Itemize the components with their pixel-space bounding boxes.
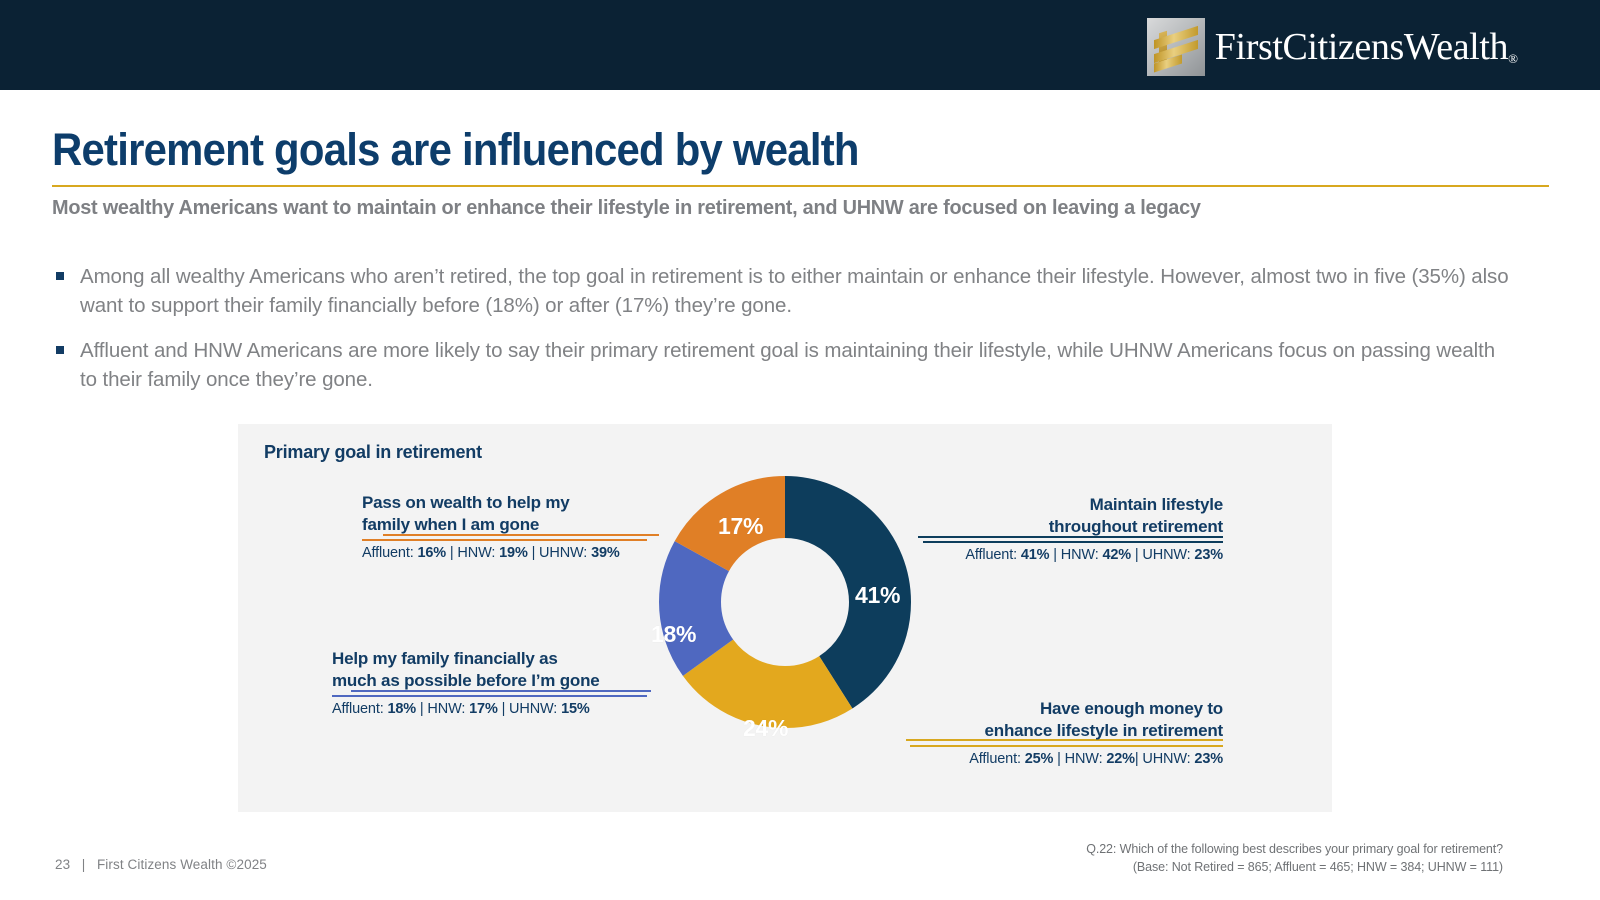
- breakdown-value-hnw: 22%: [1106, 751, 1135, 767]
- breakdown-label-hnw: | HNW:: [446, 545, 499, 561]
- bullet-square-icon: [56, 346, 64, 354]
- first-citizens-bands-logo: [1147, 18, 1205, 76]
- slice-value-enough: 24%: [743, 715, 788, 742]
- slice-value-pass: 17%: [718, 513, 763, 540]
- page-title: Retirement goals are influenced by wealt…: [52, 124, 859, 176]
- footer-copyright: First Citizens Wealth ©2025: [97, 857, 267, 872]
- footnote-question: Q.22: Which of the following best descri…: [1086, 840, 1503, 858]
- callout-heading-line1: Maintain lifestyle: [923, 494, 1223, 516]
- breakdown-label-affluent: Affluent:: [362, 545, 417, 561]
- callout-heading-line1: Help my family financially as: [332, 648, 647, 670]
- breakdown-value-affluent: 16%: [417, 545, 446, 561]
- breakdown-value-affluent: 18%: [387, 701, 416, 717]
- slice-value-maintain: 41%: [855, 582, 900, 609]
- breakdown-value-hnw: 19%: [499, 545, 528, 561]
- chart-panel: Primary goal in retirement 41% 24% 18% 1…: [238, 424, 1332, 812]
- breakdown-label-uhnw: | UHNW:: [1131, 547, 1194, 563]
- brand-name: FirstCitizensWealth: [1215, 26, 1508, 68]
- title-divider: [52, 185, 1549, 187]
- callout-heading-line1: Have enough money to: [910, 698, 1223, 720]
- brand-logo: FirstCitizensWealth®: [1147, 18, 1518, 76]
- list-item: Affluent and HNW Americans are more like…: [56, 336, 1516, 394]
- brand-wordmark: FirstCitizensWealth®: [1215, 25, 1518, 69]
- callout-heading-line2: throughout retirement: [923, 516, 1223, 538]
- callout-breakdown: Affluent: 16% | HNW: 19% | UHNW: 39%: [362, 541, 647, 561]
- breakdown-value-affluent: 25%: [1025, 751, 1054, 767]
- footer-separator: |: [82, 857, 86, 872]
- callout-breakdown: Affluent: 25% | HNW: 22%| UHNW: 23%: [910, 747, 1223, 767]
- callout-heading-line2: enhance lifestyle in retirement: [910, 720, 1223, 742]
- callout-maintain-lifestyle: Maintain lifestyle throughout retirement…: [923, 494, 1223, 563]
- callout-heading: Help my family financially as much as po…: [332, 648, 647, 695]
- breakdown-label-hnw: | HNW:: [1053, 751, 1106, 767]
- list-item: Among all wealthy Americans who aren’t r…: [56, 262, 1516, 320]
- breakdown-label-uhnw: | UHNW:: [1135, 751, 1195, 767]
- breakdown-label-uhnw: | UHNW:: [528, 545, 591, 561]
- breakdown-label-affluent: Affluent:: [969, 751, 1024, 767]
- callout-heading-line2: family when I am gone: [362, 514, 647, 536]
- callout-heading-line1: Pass on wealth to help my: [362, 492, 647, 514]
- breakdown-label-hnw: | HNW:: [416, 701, 469, 717]
- page-number: 23: [55, 857, 70, 872]
- footer-left: 23 | First Citizens Wealth ©2025: [55, 857, 267, 872]
- breakdown-label-uhnw: | UHNW:: [498, 701, 561, 717]
- callout-heading: Maintain lifestyle throughout retirement: [923, 494, 1223, 541]
- callout-heading-line2: much as possible before I’m gone: [332, 670, 647, 692]
- breakdown-value-uhnw: 23%: [1194, 547, 1223, 563]
- breakdown-label-affluent: Affluent:: [332, 701, 387, 717]
- callout-pass-on-wealth: Pass on wealth to help my family when I …: [362, 492, 647, 561]
- chart-title: Primary goal in retirement: [264, 442, 482, 463]
- bullet-text: Affluent and HNW Americans are more like…: [80, 336, 1516, 394]
- bullet-text: Among all wealthy Americans who aren’t r…: [80, 262, 1516, 320]
- breakdown-value-uhnw: 39%: [591, 545, 620, 561]
- breakdown-value-hnw: 42%: [1102, 547, 1131, 563]
- breakdown-value-uhnw: 23%: [1194, 751, 1223, 767]
- bullet-list: Among all wealthy Americans who aren’t r…: [56, 262, 1516, 410]
- breakdown-value-uhnw: 15%: [561, 701, 590, 717]
- callout-help-family: Help my family financially as much as po…: [332, 648, 647, 717]
- registered-mark-icon: ®: [1508, 51, 1518, 66]
- breakdown-label-affluent: Affluent:: [965, 547, 1020, 563]
- callout-breakdown: Affluent: 18% | HNW: 17% | UHNW: 15%: [332, 697, 647, 717]
- callout-breakdown: Affluent: 41% | HNW: 42% | UHNW: 23%: [923, 543, 1223, 563]
- breakdown-value-hnw: 17%: [469, 701, 498, 717]
- callout-have-enough-money: Have enough money to enhance lifestyle i…: [910, 698, 1223, 767]
- page-subtitle: Most wealthy Americans want to maintain …: [52, 196, 1201, 220]
- breakdown-label-hnw: | HNW:: [1049, 547, 1102, 563]
- header-bar: FirstCitizensWealth®: [0, 0, 1600, 90]
- breakdown-value-affluent: 41%: [1021, 547, 1050, 563]
- footnote-base: (Base: Not Retired = 865; Affluent = 465…: [1086, 858, 1503, 876]
- bullet-square-icon: [56, 272, 64, 280]
- source-footnote: Q.22: Which of the following best descri…: [1086, 840, 1503, 876]
- donut-chart: 41% 24% 18% 17%: [658, 475, 912, 729]
- slice-value-help: 18%: [651, 621, 696, 648]
- callout-heading: Pass on wealth to help my family when I …: [362, 492, 647, 539]
- callout-heading: Have enough money to enhance lifestyle i…: [910, 698, 1223, 745]
